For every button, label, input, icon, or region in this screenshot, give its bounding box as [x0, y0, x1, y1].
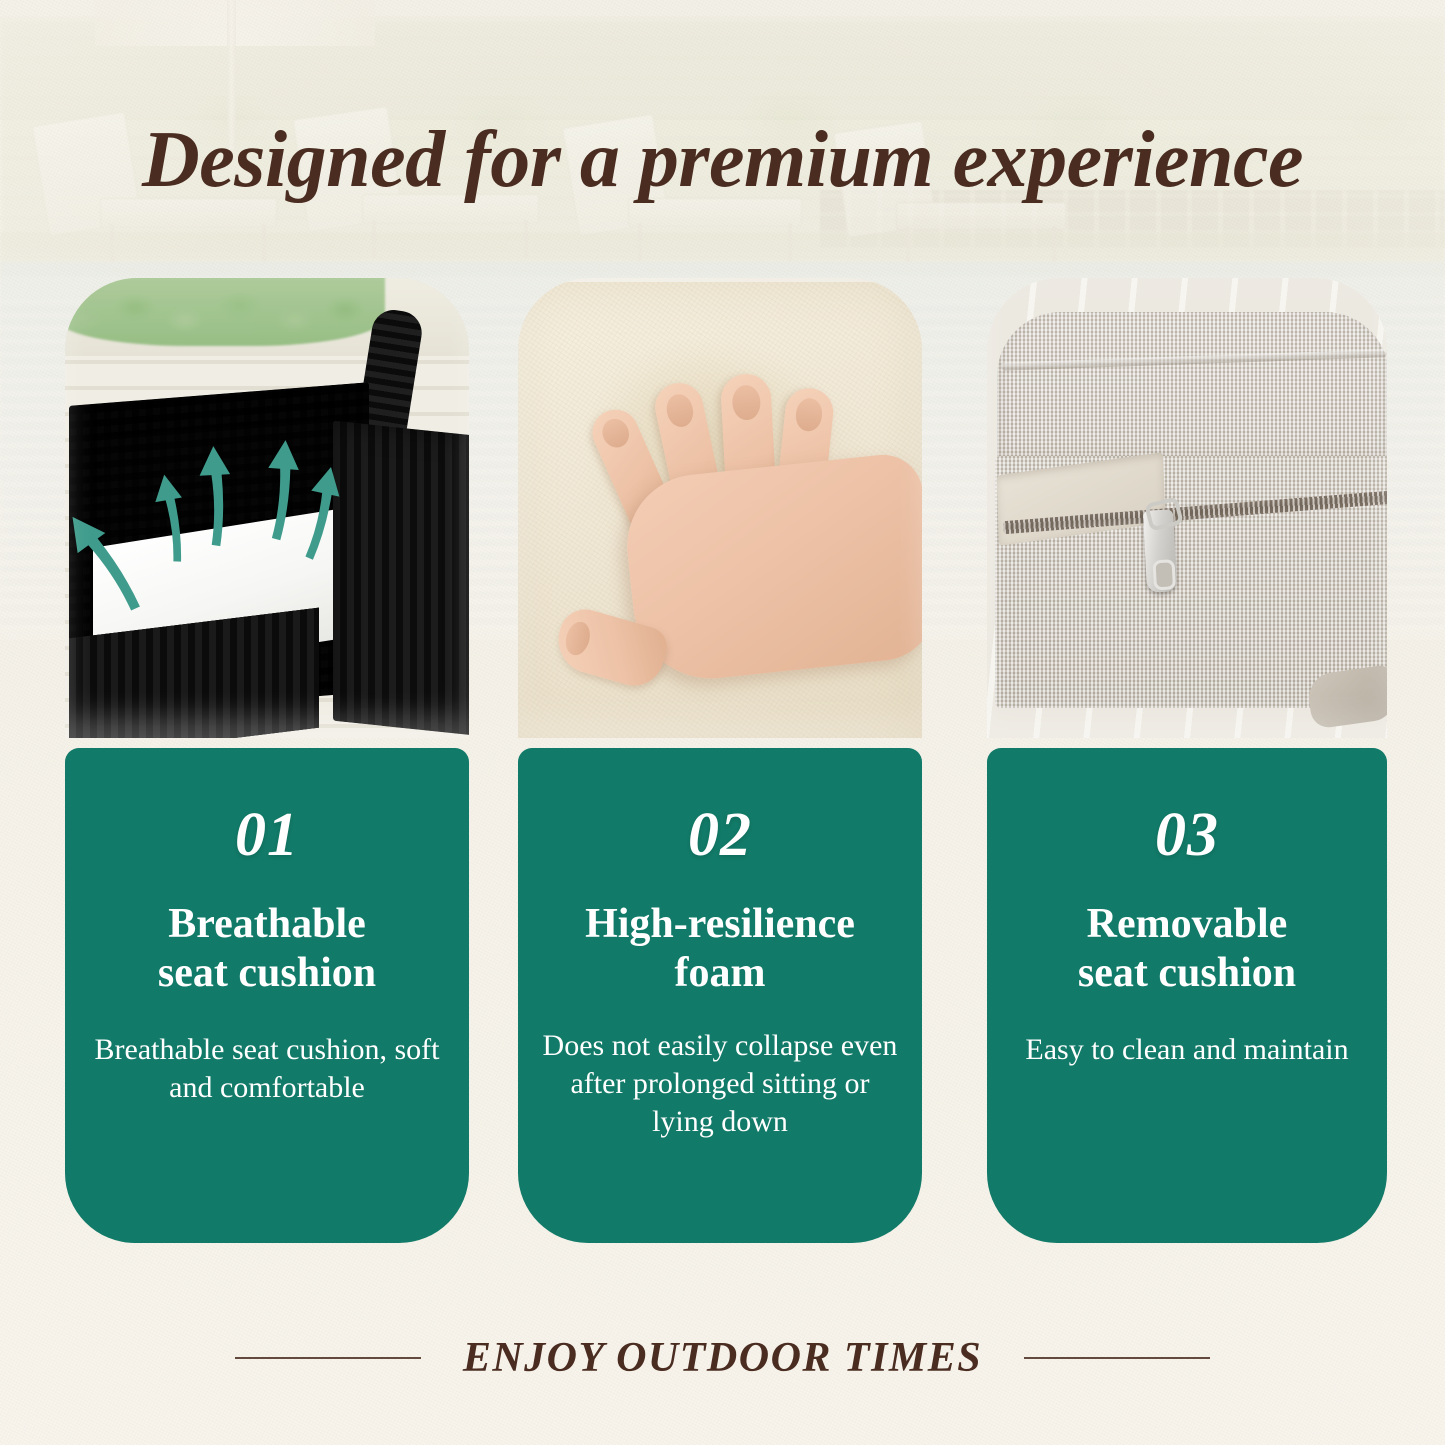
feature-card-list: 01 Breathable seat cushion Breathable se… [0, 278, 1445, 1253]
feature-photo-high-resilience-foam [518, 278, 922, 738]
feature-title-line1: High-resilience [585, 901, 855, 947]
feature-photo-breathable-cushion [65, 278, 469, 738]
feature-number: 01 [79, 748, 455, 866]
feature-panel-03: 03 Removable seat cushion Easy to clean … [987, 748, 1387, 1243]
feature-card-03: 03 Removable seat cushion Easy to clean … [987, 278, 1387, 1243]
feature-title-line2: seat cushion [158, 950, 376, 996]
feature-number: 03 [1001, 748, 1373, 866]
feature-title: Removable seat cushion [1001, 900, 1373, 997]
feature-panel-01: 01 Breathable seat cushion Breathable se… [65, 748, 469, 1243]
feature-number: 02 [532, 748, 908, 866]
feature-card-02: 02 High-resilience foam Does not easily … [518, 278, 922, 1243]
footer-tagline: ENJOY OUTDOOR TIMES [463, 1334, 982, 1382]
feature-title: High-resilience foam [532, 900, 908, 997]
feature-description: Does not easily collapse even after prol… [532, 1027, 908, 1140]
feature-title: Breathable seat cushion [79, 900, 455, 997]
feature-panel-02: 02 High-resilience foam Does not easily … [518, 748, 922, 1243]
feature-photo-removable-cushion-zipper [987, 278, 1387, 738]
footer-rule-right [1024, 1357, 1210, 1359]
airflow-arrow-icon [196, 445, 235, 549]
feature-card-01: 01 Breathable seat cushion Breathable se… [65, 278, 469, 1243]
feature-title-line1: Removable [1087, 901, 1288, 947]
footer-rule-left [235, 1357, 421, 1359]
feature-title-line2: foam [675, 950, 766, 996]
feature-description: Breathable seat cushion, soft and comfor… [79, 1031, 455, 1107]
product-feature-poster: Designed for a premium experience [0, 0, 1445, 1445]
airflow-arrow-icon [261, 439, 302, 543]
footer-tagline-bar: ENJOY OUTDOOR TIMES [0, 1318, 1445, 1398]
feature-title-line2: seat cushion [1078, 950, 1296, 996]
feature-title-line1: Breathable [168, 901, 366, 947]
page-title: Designed for a premium experience [0, 118, 1445, 202]
feature-description: Easy to clean and maintain [1001, 1031, 1373, 1069]
